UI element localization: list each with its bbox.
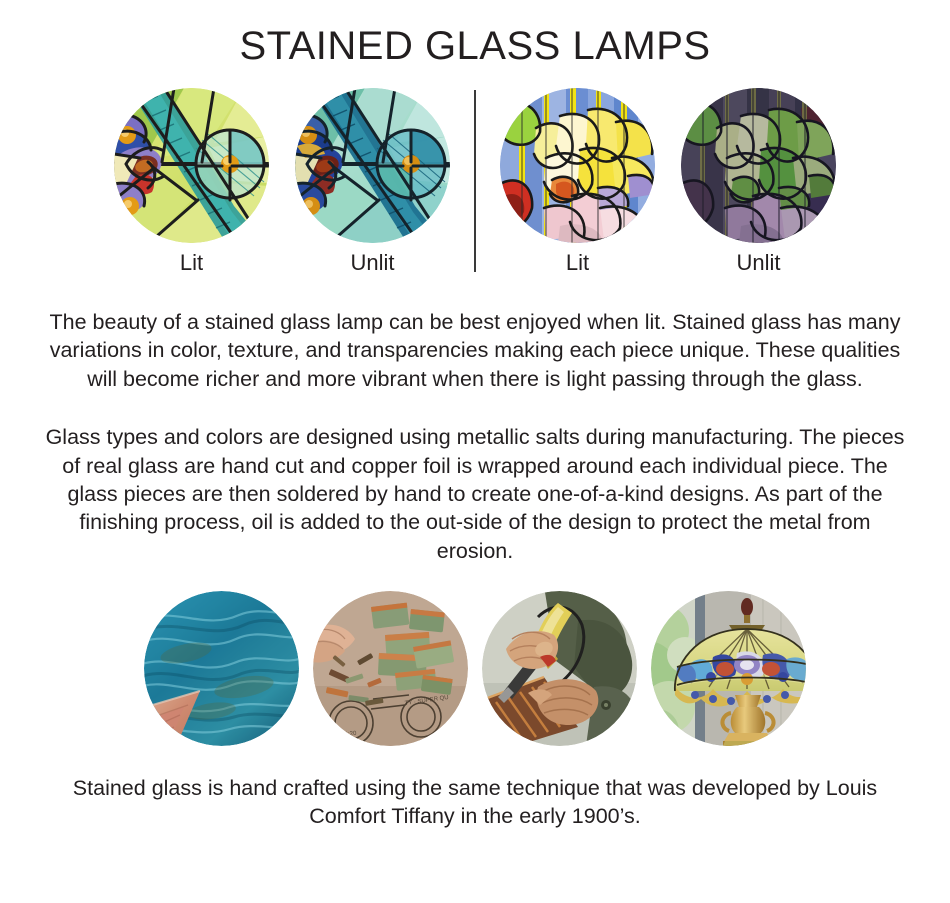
process-images-row: TY · SUPER QU 1001:20 [0, 591, 950, 746]
comparison-group-magnolia: Lit [500, 88, 836, 274]
swatch-magnolia-lit[interactable]: Lit [500, 88, 655, 274]
copper-foil-image: TY · SUPER QU 1001:20 [313, 591, 468, 746]
stained-glass-dragonfly-unlit-image [295, 88, 450, 243]
swatch-label: Lit [500, 252, 655, 274]
intro-paragraph: The beauty of a stained glass lamp can b… [45, 308, 905, 393]
page-title: STAINED GLASS LAMPS [0, 0, 950, 66]
glass-sheet-image [144, 591, 299, 746]
lit-unlit-comparison-row: Lit [0, 88, 950, 288]
swatch-label: Unlit [295, 252, 450, 274]
stained-glass-magnolia-unlit-image [681, 88, 836, 243]
comparison-group-dragonfly: Lit [114, 88, 450, 274]
process-paragraph: Glass types and colors are designed usin… [45, 423, 905, 565]
soldering-image [482, 591, 637, 746]
stained-glass-dragonfly-lit-image [114, 88, 269, 243]
swatch-label: Unlit [681, 252, 836, 274]
stained-glass-magnolia-lit-image [500, 88, 655, 243]
swatch-dragonfly-lit[interactable]: Lit [114, 88, 269, 274]
finished-lamp-image [651, 591, 806, 746]
heritage-paragraph: Stained glass is hand crafted using the … [45, 774, 905, 831]
swatch-label: Lit [114, 252, 269, 274]
swatch-dragonfly-unlit[interactable]: Unlit [295, 88, 450, 274]
section-divider [474, 90, 476, 272]
swatch-magnolia-unlit[interactable]: Unlit [681, 88, 836, 274]
